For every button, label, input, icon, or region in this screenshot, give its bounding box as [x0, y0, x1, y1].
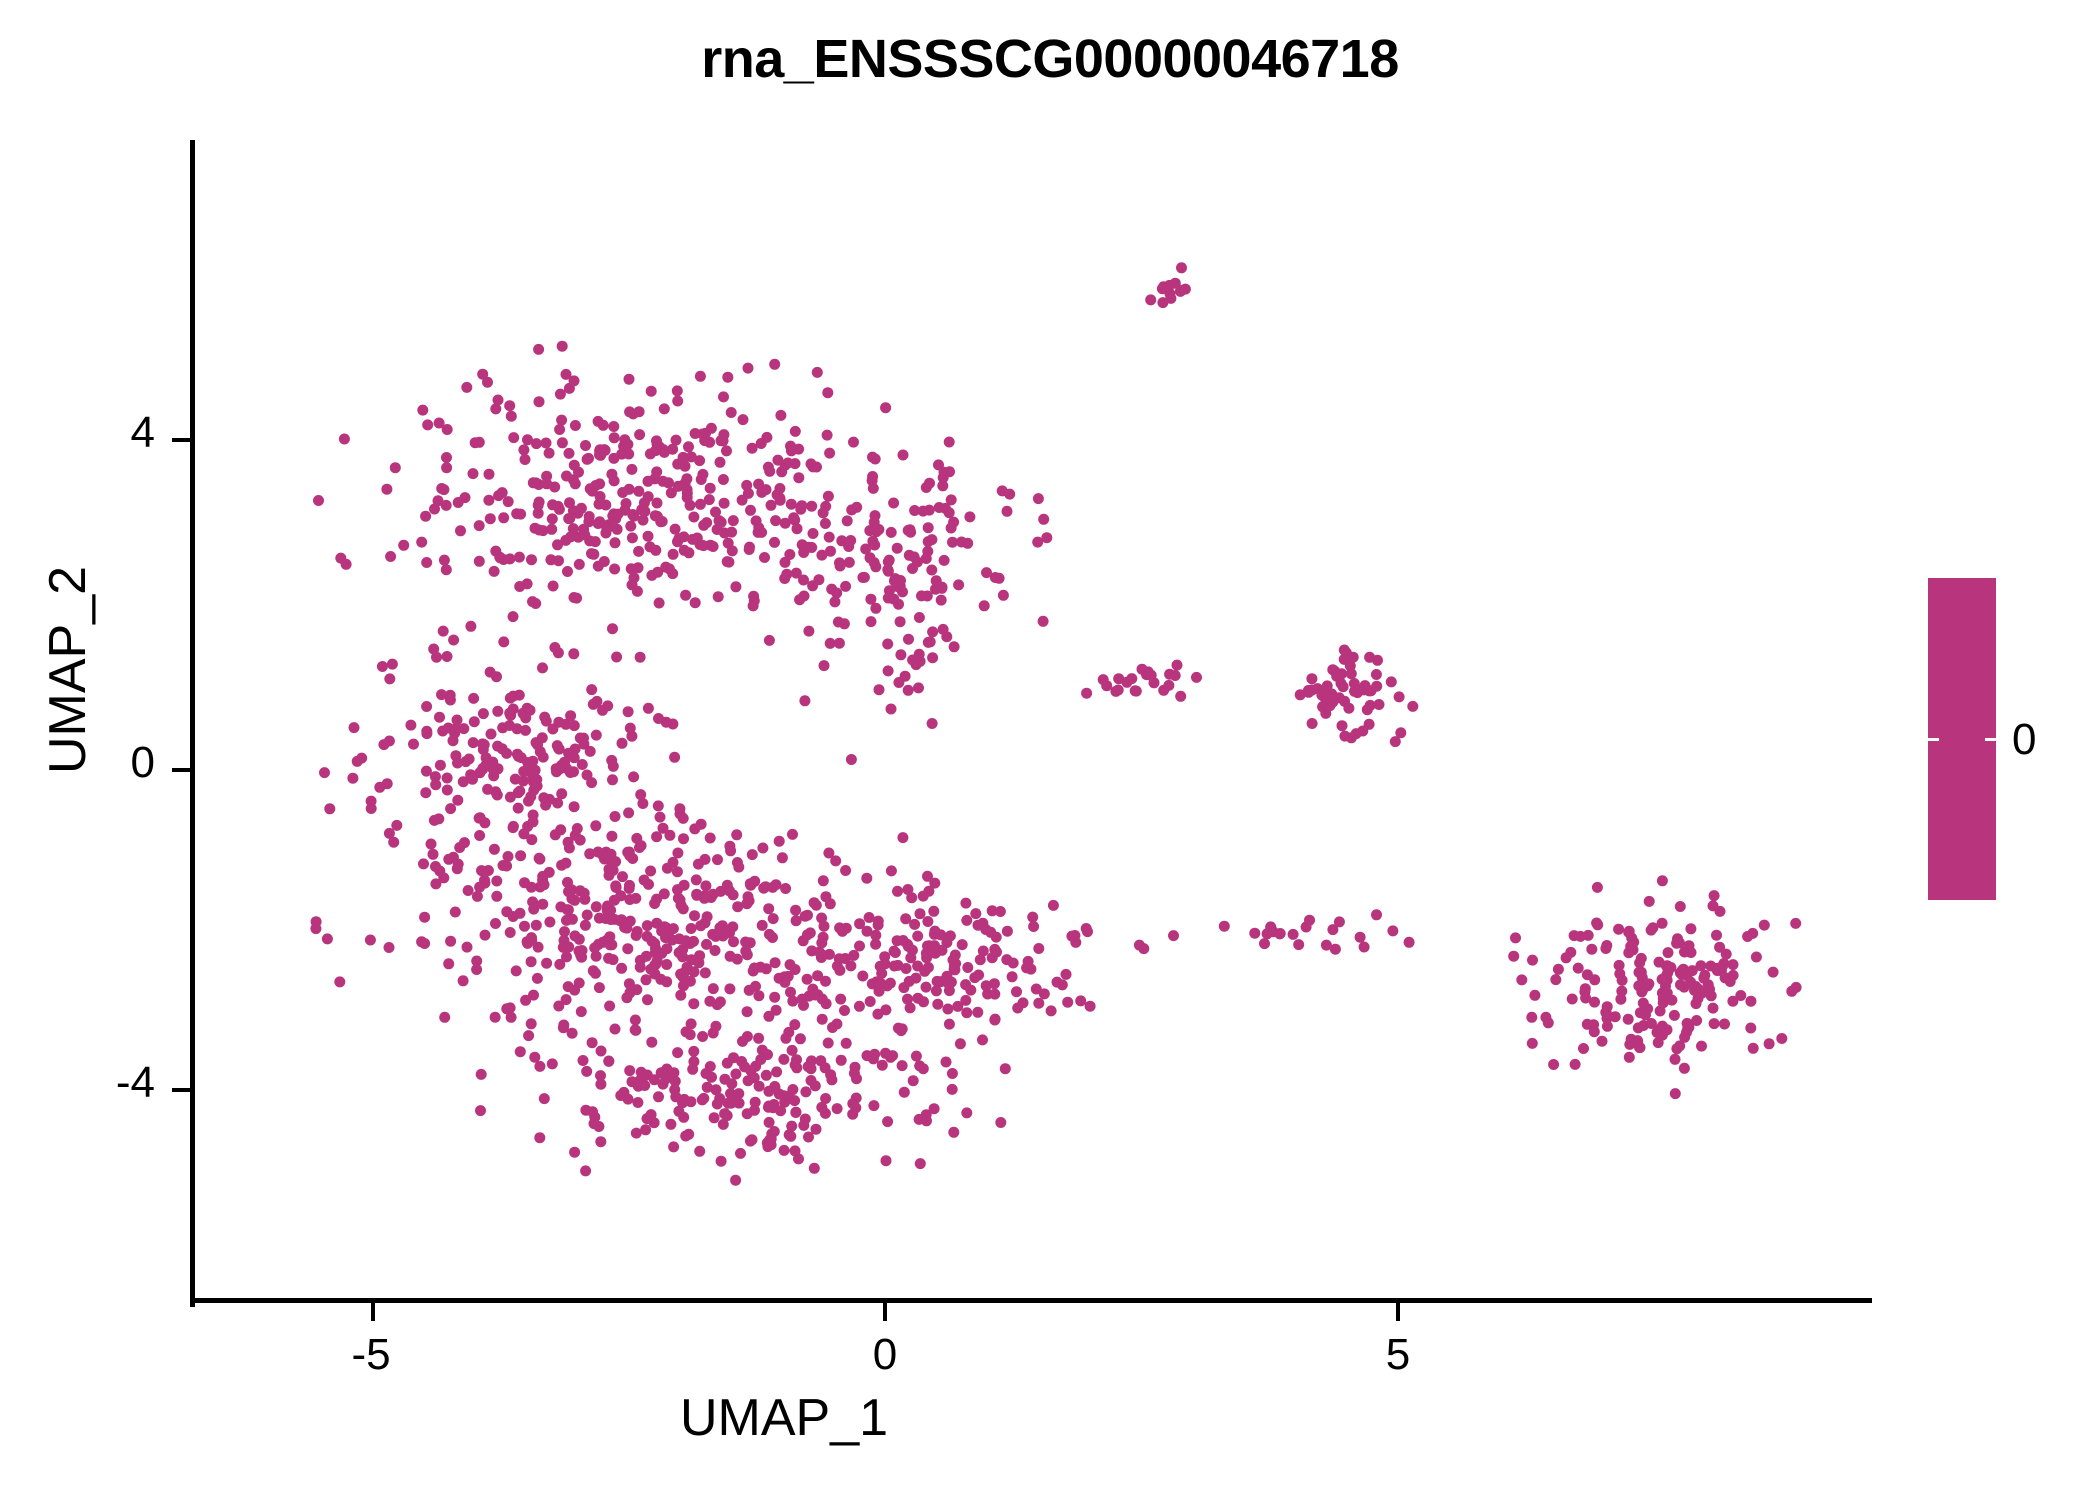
scatter-point	[737, 495, 748, 506]
scatter-point	[1349, 686, 1360, 697]
scatter-point	[1510, 932, 1521, 943]
scatter-point	[973, 970, 984, 981]
scatter-point	[1711, 930, 1722, 941]
scatter-point	[722, 1058, 733, 1069]
scatter-point	[728, 515, 739, 526]
scatter-point	[695, 539, 706, 550]
scatter-point	[700, 880, 711, 891]
scatter-point	[700, 917, 711, 928]
scatter-point	[930, 948, 941, 959]
x-tick-label--5: -5	[301, 1330, 441, 1380]
scatter-point	[947, 1084, 958, 1095]
scatter-point	[518, 776, 529, 787]
scatter-point	[697, 429, 708, 440]
scatter-point	[941, 937, 952, 948]
scatter-point	[621, 498, 632, 509]
scatter-point	[612, 524, 623, 535]
scatter-point	[947, 1068, 958, 1079]
scatter-point	[661, 943, 672, 954]
scatter-point	[743, 891, 754, 902]
scatter-point	[825, 898, 836, 909]
scatter-point	[831, 588, 842, 599]
scatter-point	[987, 905, 998, 916]
scatter-point	[747, 1134, 758, 1145]
scatter-point	[997, 485, 1008, 496]
scatter-point	[530, 477, 541, 488]
scatter-point	[1149, 677, 1160, 688]
scatter-point	[816, 1102, 827, 1113]
scatter-point	[775, 1105, 786, 1116]
scatter-point	[724, 983, 735, 994]
scatter-point	[566, 884, 577, 895]
scatter-point	[1662, 988, 1673, 999]
scatter-point	[1343, 703, 1354, 714]
scatter-point	[553, 1001, 564, 1012]
scatter-point	[757, 843, 768, 854]
scatter-point	[1657, 918, 1668, 929]
scatter-point	[615, 1090, 626, 1101]
scatter-point	[486, 729, 497, 740]
scatter-point	[468, 468, 479, 479]
scatter-point	[433, 495, 444, 506]
scatter-point	[555, 824, 566, 835]
scatter-point	[873, 524, 884, 535]
scatter-point	[624, 1065, 635, 1076]
scatter-point	[874, 985, 885, 996]
scatter-point	[680, 461, 691, 472]
scatter-point	[1130, 685, 1141, 696]
scatter-point	[1653, 1037, 1664, 1048]
scatter-point	[730, 1175, 741, 1186]
scatter-point	[716, 517, 727, 528]
scatter-point	[1565, 947, 1576, 958]
scatter-point	[888, 594, 899, 605]
scatter-point	[558, 1022, 569, 1033]
scatter-point	[1586, 944, 1597, 955]
scatter-point	[924, 940, 935, 951]
scatter-point	[512, 749, 523, 760]
scatter-point	[1321, 940, 1332, 951]
scatter-point	[608, 761, 619, 772]
scatter-point	[527, 770, 538, 781]
scatter-point	[646, 1037, 657, 1048]
scatter-point	[1623, 1014, 1634, 1025]
scatter-point	[718, 391, 729, 402]
scatter-point	[356, 753, 367, 764]
scatter-point	[1012, 1003, 1023, 1014]
scatter-point	[1295, 689, 1306, 700]
scatter-point	[1007, 971, 1018, 982]
scatter-point	[818, 507, 829, 518]
scatter-point	[949, 964, 960, 975]
scatter-point	[483, 865, 494, 876]
scatter-point	[800, 1114, 811, 1125]
scatter-point	[835, 561, 846, 572]
scatter-point	[965, 985, 976, 996]
scatter-point	[559, 926, 570, 937]
scatter-point	[569, 720, 580, 731]
scatter-point	[460, 492, 471, 503]
scatter-point	[668, 1067, 679, 1078]
scatter-point	[624, 484, 635, 495]
scatter-point	[313, 495, 324, 506]
scatter-point	[653, 713, 664, 724]
scatter-point	[481, 759, 492, 770]
scatter-point	[786, 499, 797, 510]
scatter-point	[377, 661, 388, 672]
scatter-point	[1066, 931, 1077, 942]
scatter-point	[806, 501, 817, 512]
scatter-point	[489, 566, 500, 577]
legend-colorbar[interactable]: 0	[1928, 578, 2100, 908]
scatter-point	[479, 817, 490, 828]
scatter-point	[940, 503, 951, 514]
scatter-point	[876, 968, 887, 979]
scatter-point	[706, 1072, 717, 1083]
scatter-point	[508, 911, 519, 922]
scatter-point	[642, 1113, 653, 1124]
scatter-point	[1570, 1059, 1581, 1070]
scatter-point	[1567, 994, 1578, 1005]
scatter-point	[635, 962, 646, 973]
scatter-point	[642, 1070, 653, 1081]
scatter-point	[867, 536, 878, 547]
scatter-point	[467, 774, 478, 785]
scatter-point	[790, 1059, 801, 1070]
scatter-point	[1610, 1011, 1621, 1022]
scatter-point	[434, 418, 445, 429]
scatter-point	[791, 1062, 802, 1073]
scatter-point	[723, 1098, 734, 1109]
scatter-point	[577, 759, 588, 770]
scatter-point	[1320, 691, 1331, 702]
scatter-point	[768, 913, 779, 924]
x-tick-mark-0	[883, 1303, 887, 1321]
scatter-point	[895, 649, 906, 660]
scatter-point	[489, 844, 500, 855]
scatter-point	[388, 837, 399, 848]
scatter-point	[809, 897, 820, 908]
scatter-point	[1633, 980, 1644, 991]
scatter-point	[762, 1049, 773, 1060]
scatter-point	[534, 525, 545, 536]
scatter-point	[948, 517, 959, 528]
scatter-point	[574, 559, 585, 570]
scatter-point	[1357, 726, 1368, 737]
scatter-point	[1634, 1042, 1645, 1053]
scatter-point	[750, 1097, 761, 1108]
scatter-point	[626, 464, 637, 475]
scatter-point	[847, 1098, 858, 1109]
scatter-point	[477, 763, 488, 774]
scatter-point	[563, 837, 574, 848]
scatter-point	[909, 919, 920, 930]
scatter-point	[635, 1075, 646, 1086]
scatter-point	[1646, 1018, 1657, 1029]
scatter-point	[538, 792, 549, 803]
scatter-point	[1374, 699, 1385, 710]
scatter-point	[759, 552, 770, 563]
scatter-point	[556, 415, 567, 426]
scatter-point	[907, 655, 918, 666]
scatter-point	[514, 690, 525, 701]
scatter-point	[576, 1006, 587, 1017]
scatter-point	[1527, 1038, 1538, 1049]
scatter-point	[981, 980, 992, 991]
scatter-point	[1146, 670, 1157, 681]
scatter-point	[606, 755, 617, 766]
scatter-point	[893, 599, 904, 610]
scatter-point	[688, 1046, 699, 1057]
scatter-point	[1691, 998, 1702, 1009]
scatter-point	[452, 795, 463, 806]
scatter-point	[365, 935, 376, 946]
scatter-point	[599, 854, 610, 865]
scatter-point	[668, 549, 679, 560]
scatter-point	[1687, 965, 1698, 976]
scatter-point	[652, 956, 663, 967]
scatter-point	[429, 815, 440, 826]
scatter-point	[893, 1023, 904, 1034]
scatter-point	[869, 540, 880, 551]
scatter-point	[1638, 998, 1649, 1009]
scatter-point	[1038, 616, 1049, 627]
scatter-point	[1553, 964, 1564, 975]
scatter-point	[705, 483, 716, 494]
scatter-point	[1708, 1003, 1719, 1014]
scatter-point	[515, 509, 526, 520]
scatter-point	[429, 504, 440, 515]
scatter-point	[541, 438, 552, 449]
scatter-point	[541, 716, 552, 727]
scatter-point	[560, 858, 571, 869]
scatter-point	[390, 462, 401, 473]
scatter-point	[977, 918, 988, 929]
scatter-point	[650, 943, 661, 954]
scatter-point	[865, 594, 876, 605]
scatter-point	[883, 665, 894, 676]
scatter-point	[569, 895, 580, 906]
scatter-point	[490, 403, 501, 414]
scatter-point	[508, 611, 519, 622]
scatter-point	[504, 400, 515, 411]
scatter-point	[859, 572, 870, 583]
scatter-point	[1008, 958, 1019, 969]
scatter-point	[624, 883, 635, 894]
scatter-point	[719, 1074, 730, 1085]
scatter-point	[947, 537, 958, 548]
scatter-point	[678, 531, 689, 542]
scatter-point	[398, 540, 409, 551]
scatter-point	[911, 1051, 922, 1062]
scatter-point	[1671, 1043, 1682, 1054]
scatter-point	[871, 976, 882, 987]
scatter-point	[747, 443, 758, 454]
scatter-point	[949, 960, 960, 971]
scatter-point	[549, 642, 560, 653]
colorbar-tick-label-0: 0	[2012, 715, 2036, 765]
scatter-point	[544, 794, 555, 805]
scatter-point	[834, 557, 845, 568]
scatter-point	[450, 750, 461, 761]
scatter-point	[541, 471, 552, 482]
scatter-point	[950, 950, 961, 961]
scatter-point	[428, 644, 439, 655]
scatter-point	[449, 728, 460, 739]
scatter-point	[452, 863, 463, 874]
scatter-point	[898, 935, 909, 946]
scatter-point	[504, 553, 515, 564]
scatter-point	[975, 954, 986, 965]
scatter-point	[978, 946, 989, 957]
scatter-point	[708, 983, 719, 994]
scatter-point	[936, 583, 947, 594]
scatter-point	[749, 963, 760, 974]
scatter-point	[436, 689, 447, 700]
scatter-point	[656, 948, 667, 959]
scatter-point	[1031, 984, 1042, 995]
scatter-point	[775, 410, 786, 421]
scatter-point	[530, 765, 541, 776]
scatter-point	[498, 512, 509, 523]
scatter-point	[570, 420, 581, 431]
scatter-point	[652, 498, 663, 509]
scatter-point	[1027, 912, 1038, 923]
scatter-point	[994, 573, 1005, 584]
scatter-point	[1312, 683, 1323, 694]
scatter-point	[562, 877, 573, 888]
scatter-point	[1672, 933, 1683, 944]
scatter-point	[561, 994, 572, 1005]
scatter-point	[691, 890, 702, 901]
scatter-point	[1735, 990, 1746, 1001]
scatter-point	[1582, 969, 1593, 980]
scatter-point	[774, 1089, 785, 1100]
scatter-point	[907, 563, 918, 574]
scatter-point	[519, 921, 530, 932]
scatter-point	[532, 973, 543, 984]
scatter-point	[1675, 979, 1686, 990]
scatter-point	[912, 961, 923, 972]
scatter-point	[680, 935, 691, 946]
scatter-point	[923, 886, 934, 897]
scatter-point	[1323, 689, 1334, 700]
scatter-point	[1164, 280, 1175, 291]
scatter-point	[1677, 965, 1688, 976]
scatter-point	[1693, 993, 1704, 1004]
scatter-point	[743, 363, 754, 374]
scatter-point	[1407, 701, 1418, 712]
scatter-point	[652, 511, 663, 522]
scatter-point	[522, 821, 533, 832]
scatter-point	[714, 1093, 725, 1104]
scatter-point	[1366, 685, 1377, 696]
scatter-point	[537, 732, 548, 743]
scatter-point	[685, 1096, 696, 1107]
scatter-point	[895, 575, 906, 586]
figure-canvas: rna_ENSSSCG00000046718 4 0 -4 -5 0 5 UMA…	[0, 0, 2100, 1500]
scatter-point	[520, 712, 531, 723]
scatter-point	[538, 525, 549, 536]
scatter-point	[761, 963, 772, 974]
scatter-point	[436, 483, 447, 494]
scatter-point	[724, 841, 735, 852]
scatter-point	[818, 932, 829, 943]
scatter-point	[490, 1012, 501, 1023]
scatter-point	[1165, 293, 1176, 304]
scatter-point	[667, 719, 678, 730]
scatter-point	[686, 1018, 697, 1029]
scatter-point	[809, 1163, 820, 1174]
scatter-point	[698, 1093, 709, 1104]
scatter-point	[1588, 1019, 1599, 1030]
scatter-point	[1614, 968, 1625, 979]
scatter-point	[677, 951, 688, 962]
scatter-point	[771, 879, 782, 890]
scatter-point	[575, 949, 586, 960]
scatter-point	[989, 978, 1000, 989]
scatter-point	[465, 621, 476, 632]
scatter-point	[437, 726, 448, 737]
scatter-point	[1070, 937, 1081, 948]
scatter-point	[616, 963, 627, 974]
scatter-point	[654, 598, 665, 609]
scatter-point	[778, 1090, 789, 1101]
scatter-point	[1676, 969, 1687, 980]
scatter-point	[1623, 927, 1634, 938]
scatter-point	[1624, 1052, 1635, 1063]
scatter-point	[655, 812, 666, 823]
scatter-point	[892, 935, 903, 946]
scatter-point	[659, 403, 670, 414]
scatter-point	[622, 943, 633, 954]
scatter-point	[591, 901, 602, 912]
scatter-point	[672, 459, 683, 470]
scatter-point	[725, 1098, 736, 1109]
scatter-point	[1727, 996, 1738, 1007]
scatter-point	[733, 862, 744, 873]
scatter-point	[478, 744, 489, 755]
scatter-point	[631, 1128, 642, 1139]
scatter-point	[639, 875, 650, 886]
scatter-point	[1364, 685, 1375, 696]
scatter-point	[774, 973, 785, 984]
scatter-point	[932, 976, 943, 987]
scatter-point	[1695, 960, 1706, 971]
scatter-point	[771, 1005, 782, 1016]
scatter-point	[526, 935, 537, 946]
scatter-point	[475, 1105, 486, 1116]
scatter-point	[547, 724, 558, 735]
scatter-point	[892, 886, 903, 897]
scatter-point	[552, 798, 563, 809]
scatter-point	[926, 534, 937, 545]
scatter-point	[586, 684, 597, 695]
scatter-point	[544, 917, 555, 928]
scatter-point	[946, 494, 957, 505]
scatter-point	[787, 1084, 798, 1095]
scatter-point	[606, 939, 617, 950]
scatter-point	[1678, 964, 1689, 975]
scatter-point	[1657, 1021, 1668, 1032]
scatter-point	[911, 659, 922, 670]
scatter-point	[474, 813, 485, 824]
scatter-point	[873, 920, 884, 931]
scatter-point	[602, 901, 613, 912]
scatter-point	[630, 1024, 641, 1035]
scatter-point	[714, 922, 725, 933]
scatter-point	[948, 1127, 959, 1138]
